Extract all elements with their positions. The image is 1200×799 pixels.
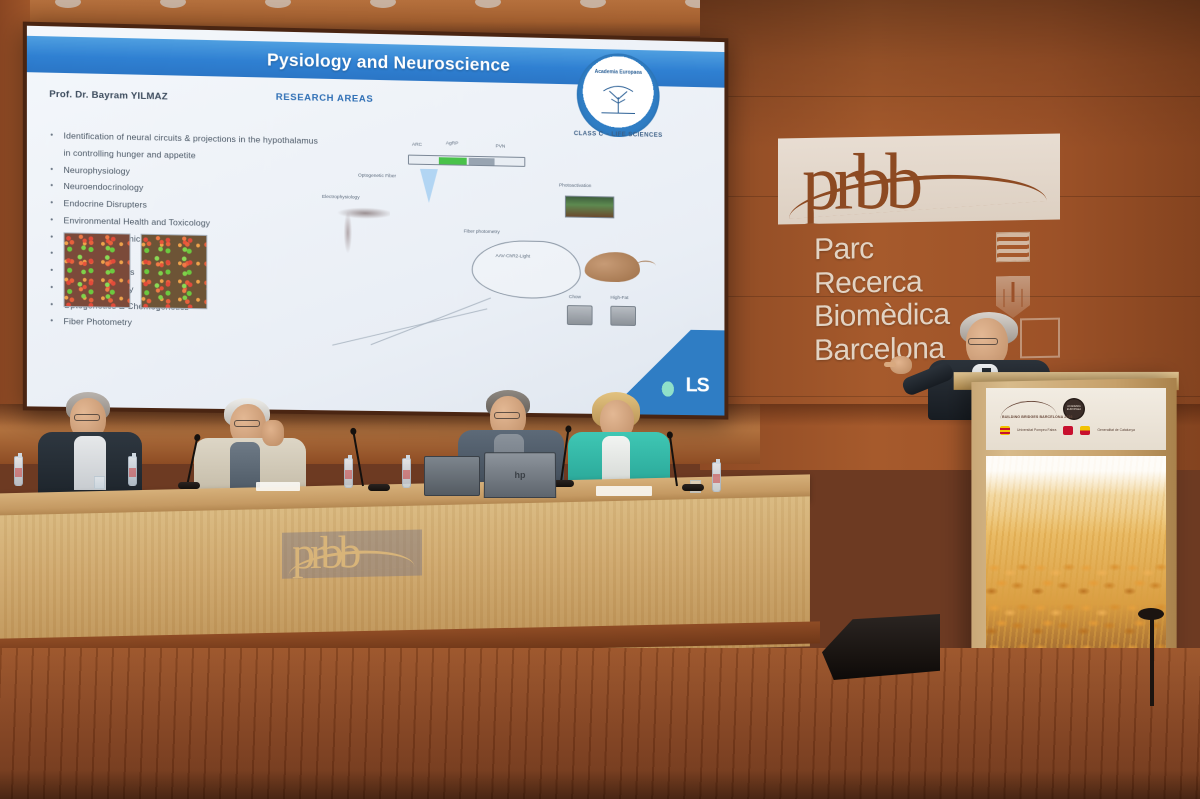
glasses-icon — [968, 338, 998, 345]
prbb-wall-logo-plate: prbb — [778, 134, 1060, 225]
sponsor-label-1: Universitat Pompeu Fabra — [1017, 428, 1056, 432]
water-bottle — [14, 456, 23, 486]
brain-outline-graphic — [472, 240, 581, 300]
prbb-name-line: Biomèdica — [814, 298, 950, 334]
microphone-stand — [1150, 614, 1154, 706]
diagram-label: Optogenetic Fiber — [358, 174, 396, 180]
chow-box-graphic — [567, 305, 593, 325]
generalitat-label: Generalitat de Catalunya — [1097, 428, 1135, 432]
diagram-label: ARC — [412, 143, 422, 148]
wall-emblem-frame — [1020, 318, 1060, 359]
water-bottle — [712, 462, 721, 492]
glasses-icon — [74, 414, 100, 421]
conference-hall-photo: Pysiology and Neuroscience Prof. Dr. Bay… — [0, 0, 1200, 799]
glasses-icon — [234, 420, 260, 427]
mouse-illustration — [585, 252, 640, 283]
drinking-glass — [94, 476, 105, 489]
microphone-base — [178, 482, 200, 489]
slide-presenter-name: Prof. Dr. Bayram YILMAZ — [49, 89, 168, 103]
list-item: Identification of neural circuits & proj… — [45, 127, 318, 166]
hand — [262, 420, 284, 446]
highfat-box-graphic — [610, 306, 636, 326]
floor-shadow — [0, 770, 1200, 799]
glasses-icon — [494, 412, 520, 419]
water-bottle — [344, 458, 353, 488]
optogenetic-light-cone — [420, 169, 438, 203]
sponsor-chip-icon — [1063, 426, 1073, 435]
building-bridges-label: BUILDING BRIDGES BARCELONA 2022 — [1002, 415, 1073, 419]
papers — [596, 486, 652, 496]
projection-screen: Pysiology and Neuroscience Prof. Dr. Bay… — [23, 22, 729, 420]
electrophysiology-trace — [328, 201, 390, 254]
table-prbb-logo: prbb — [282, 529, 422, 578]
hp-logo: hp — [514, 470, 525, 480]
diagram-label: AgRP — [446, 141, 458, 146]
laptop-secondary[interactable] — [424, 456, 480, 496]
projected-slide: Pysiology and Neuroscience Prof. Dr. Bay… — [27, 26, 725, 416]
diagram-label: Chow — [569, 295, 581, 300]
generalitat-chip-icon — [1080, 426, 1090, 435]
diagram-label: Fiber photometry — [464, 230, 500, 236]
sponsor-chip-icon — [1000, 426, 1010, 435]
leaf-icon — [662, 377, 678, 397]
diagram-label: AAV-ChR2-Light — [496, 254, 531, 260]
shirt — [602, 436, 630, 482]
laptop-hp[interactable]: hp — [484, 452, 556, 498]
water-bottle — [128, 456, 137, 486]
pointing-finger — [884, 362, 896, 367]
diagram-label: Photoactivation — [559, 184, 591, 190]
podium-sponsor-logos: ACADEMIA EUROPAEA BUILDING BRIDGES BARCE… — [1000, 396, 1152, 444]
water-bottle — [402, 458, 411, 488]
diagram-label: High-Fat — [610, 296, 628, 301]
stage-monitor-speaker — [822, 614, 940, 680]
neuroscience-diagram: ARC AgRP PVN Optogenetic Fiber Electroph… — [320, 129, 677, 335]
ls-logo-text: LS — [686, 374, 709, 397]
prbb-wall-name: Parc Recerca Biomèdica Barcelona — [814, 231, 950, 368]
prbb-name-line: Parc — [814, 231, 950, 267]
list-item: Fiber Photometry — [45, 313, 318, 334]
viral-construct-graphic — [408, 155, 525, 167]
fluorescence-microscopy-image — [141, 234, 208, 310]
diagram-label: PVN — [496, 144, 506, 149]
podium-seal-text: ACADEMIA EUROPAEA — [1063, 398, 1085, 411]
photoactivation-recording-graphic — [565, 196, 614, 219]
slide-section-label: RESEARCH AREAS — [276, 92, 373, 105]
microphone-base — [682, 484, 704, 491]
tree-icon — [596, 75, 641, 116]
catalan-flag-icon — [996, 232, 1030, 263]
fluorescence-microscopy-image — [64, 232, 131, 308]
diagram-label: Electrophysiology — [322, 195, 360, 201]
prbb-name-line: Barcelona — [814, 332, 950, 368]
slide-title: Pysiology and Neuroscience — [267, 49, 510, 76]
papers — [256, 482, 300, 491]
academia-europaea-seal-icon: Academia Europaea — [577, 53, 660, 138]
microphone-base — [368, 484, 390, 491]
prbb-name-line: Recerca — [814, 264, 950, 300]
